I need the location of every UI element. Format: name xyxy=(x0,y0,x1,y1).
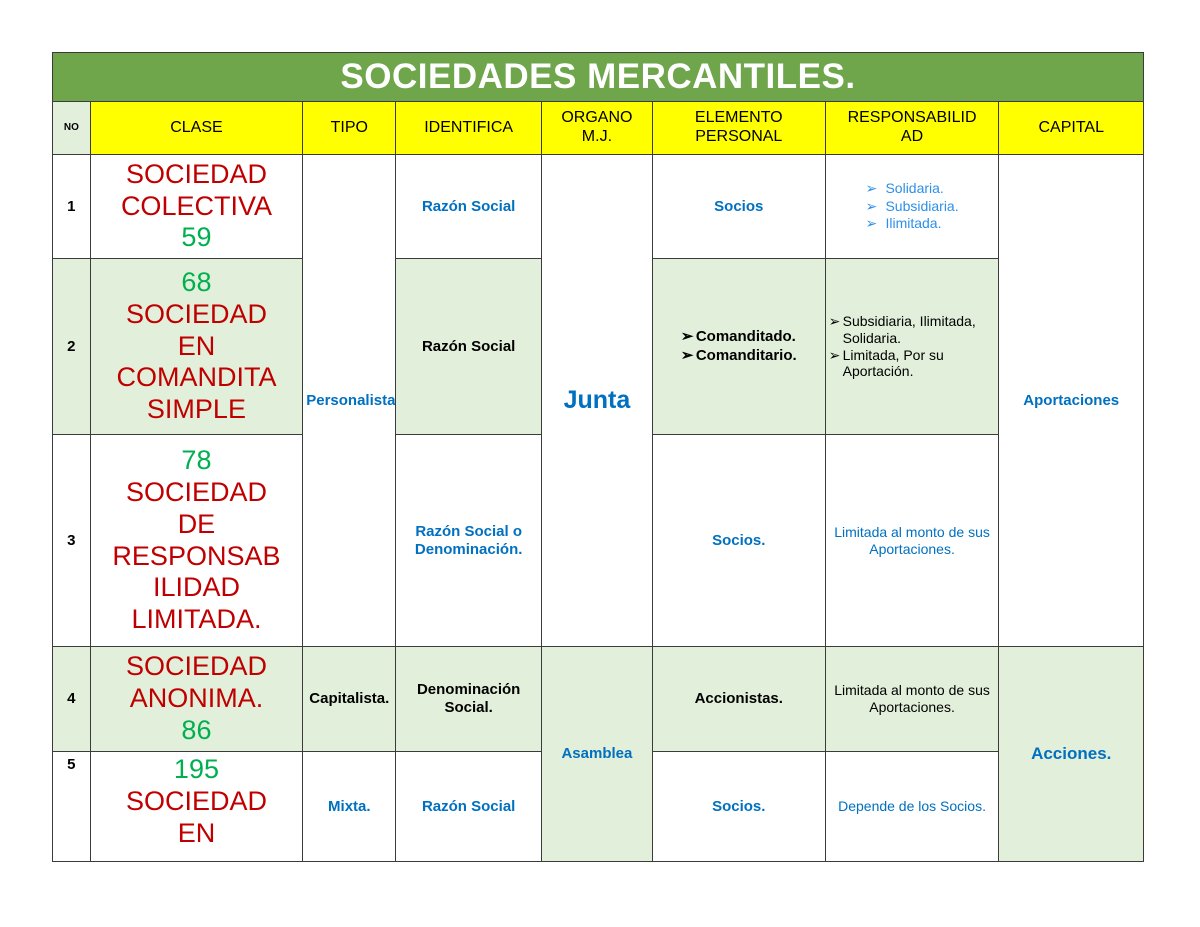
list-item: ➢Subsidiaria, Ilimitada, Solidaria. xyxy=(829,313,996,346)
clase-article-number: 68 xyxy=(181,267,211,297)
clase-line-5: LIMITADA. xyxy=(131,604,261,634)
responsabilidad-list: ➢Solidaria. ➢Subsidiaria. ➢Ilimitada. xyxy=(865,180,958,233)
list-item-label: Ilimitada. xyxy=(885,215,941,231)
clase-line-1: SOCIEDAD xyxy=(126,159,267,189)
list-item-label: Subsidiaria. xyxy=(885,198,958,214)
cell-responsabilidad: Depende de los Socios. xyxy=(825,752,999,862)
cell-clase: 68 SOCIEDAD EN COMANDITA SIMPLE xyxy=(90,259,303,435)
list-item: ➢Comanditario. xyxy=(681,347,797,365)
identifica-line-2: Denominación. xyxy=(415,541,523,558)
clase-line-4: SIMPLE xyxy=(147,394,246,424)
clase-line-2: DE xyxy=(178,509,216,539)
clase-line-3: RESPONSAB xyxy=(112,541,280,571)
sociedades-mercantiles-table: SOCIEDADES MERCANTILES. NO CLASE TIPO ID… xyxy=(52,52,1144,862)
cell-organo-merged: Junta xyxy=(541,155,652,647)
responsabilidad-list: ➢Subsidiaria, Ilimitada, Solidaria. ➢Lim… xyxy=(829,313,996,379)
column-header-clase: CLASE xyxy=(90,102,303,155)
responsabilidad-line-1: RESPONSABILID xyxy=(848,109,977,126)
table-row: 4 SOCIEDAD ANONIMA. 86 Capitalista. Deno… xyxy=(53,647,1144,752)
list-item-label: Limitada, Por su Aportación. xyxy=(843,347,944,380)
row-number: 3 xyxy=(53,435,91,647)
bullet-arrow-icon: ➢ xyxy=(681,328,694,346)
cell-responsabilidad: ➢Subsidiaria, Ilimitada, Solidaria. ➢Lim… xyxy=(825,259,999,435)
clase-article-number: 78 xyxy=(181,445,211,475)
cell-organo-merged: Asamblea xyxy=(541,647,652,862)
responsabilidad-line-2: AD xyxy=(901,128,923,145)
bullet-arrow-icon: ➢ xyxy=(865,215,877,232)
cell-responsabilidad: Limitada al monto de sus Aportaciones. xyxy=(825,647,999,752)
organo-line-2: M.J. xyxy=(582,128,612,145)
cell-clase: 195 SOCIEDAD EN xyxy=(90,752,303,862)
cell-identifica: Razón Social xyxy=(396,752,542,862)
clase-line-2: COLECTIVA xyxy=(121,191,272,221)
clase-line-2: EN xyxy=(178,818,216,848)
cell-capital-merged: Aportaciones xyxy=(999,155,1144,647)
elemento-line-2: PERSONAL xyxy=(695,128,782,145)
list-item-label: Solidaria. xyxy=(885,180,943,196)
bullet-arrow-icon: ➢ xyxy=(829,347,841,364)
list-item-label: Comanditado. xyxy=(696,328,796,345)
bullet-arrow-icon: ➢ xyxy=(865,198,877,215)
cell-tipo: Mixta. xyxy=(303,752,396,862)
cell-responsabilidad: Limitada al monto de sus Aportaciones. xyxy=(825,435,999,647)
list-item: ➢Ilimitada. xyxy=(865,215,958,232)
elemento-line-1: ELEMENTO xyxy=(695,109,783,126)
row-number: 2 xyxy=(53,259,91,435)
cell-elemento-personal: ➢Comanditado. ➢Comanditario. xyxy=(652,259,825,435)
column-header-tipo: TIPO xyxy=(303,102,396,155)
cell-elemento-personal: Accionistas. xyxy=(652,647,825,752)
cell-identifica: Denominación Social. xyxy=(396,647,542,752)
list-item-label: Comanditario. xyxy=(696,347,797,364)
list-item: ➢Comanditado. xyxy=(681,328,797,346)
list-item: ➢Subsidiaria. xyxy=(865,198,958,215)
clase-line-3: COMANDITA xyxy=(116,362,276,392)
page-title: SOCIEDADES MERCANTILES. xyxy=(53,53,1144,102)
identifica-line-1: Razón Social o xyxy=(415,523,522,540)
bullet-arrow-icon: ➢ xyxy=(681,347,694,365)
clase-line-1: SOCIEDAD xyxy=(126,651,267,681)
cell-identifica: Razón Social xyxy=(396,155,542,259)
identifica-line-1: Denominación xyxy=(417,681,520,698)
cell-clase: SOCIEDAD COLECTIVA 59 xyxy=(90,155,303,259)
clase-line-1: SOCIEDAD xyxy=(126,299,267,329)
row-number: 5 xyxy=(53,752,91,862)
column-header-identifica: IDENTIFICA xyxy=(396,102,542,155)
cell-clase: 78 SOCIEDAD DE RESPONSAB ILIDAD LIMITADA… xyxy=(90,435,303,647)
header-row: NO CLASE TIPO IDENTIFICA ORGANO M.J. ELE… xyxy=(53,102,1144,155)
clase-line-1: SOCIEDAD xyxy=(126,786,267,816)
title-row: SOCIEDADES MERCANTILES. xyxy=(53,53,1144,102)
elemento-personal-list: ➢Comanditado. ➢Comanditario. xyxy=(681,328,797,365)
cell-tipo: Capitalista. xyxy=(303,647,396,752)
bullet-arrow-icon: ➢ xyxy=(865,180,877,197)
cell-capital-merged: Acciones. xyxy=(999,647,1144,862)
page-root: SOCIEDADES MERCANTILES. NO CLASE TIPO ID… xyxy=(0,0,1200,927)
column-header-organo: ORGANO M.J. xyxy=(541,102,652,155)
cell-clase: SOCIEDAD ANONIMA. 86 xyxy=(90,647,303,752)
clase-article-number: 59 xyxy=(181,222,211,252)
clase-line-4: ILIDAD xyxy=(153,572,240,602)
organo-line-1: ORGANO xyxy=(561,109,632,126)
cell-responsabilidad: ➢Solidaria. ➢Subsidiaria. ➢Ilimitada. xyxy=(825,155,999,259)
cell-tipo-merged: Personalista xyxy=(303,155,396,647)
row-number: 1 xyxy=(53,155,91,259)
identifica-line-2: Social. xyxy=(444,699,492,716)
clase-line-1: SOCIEDAD xyxy=(126,477,267,507)
column-header-elemento-personal: ELEMENTO PERSONAL xyxy=(652,102,825,155)
clase-article-number: 195 xyxy=(174,754,219,784)
column-header-no: NO xyxy=(53,102,91,155)
cell-identifica: Razón Social xyxy=(396,259,542,435)
cell-elemento-personal: Socios xyxy=(652,155,825,259)
clase-line-2: ANONIMA. xyxy=(130,683,264,713)
clase-line-2: EN xyxy=(178,331,216,361)
clase-article-number: 86 xyxy=(181,715,211,745)
table-row: 1 SOCIEDAD COLECTIVA 59 Personalista Raz… xyxy=(53,155,1144,259)
list-item: ➢Limitada, Por su Aportación. xyxy=(829,347,996,380)
column-header-responsabilidad: RESPONSABILID AD xyxy=(825,102,999,155)
bullet-arrow-icon: ➢ xyxy=(829,313,841,330)
cell-elemento-personal: Socios. xyxy=(652,435,825,647)
column-header-capital: CAPITAL xyxy=(999,102,1144,155)
cell-elemento-personal: Socios. xyxy=(652,752,825,862)
cell-identifica: Razón Social o Denominación. xyxy=(396,435,542,647)
row-number: 4 xyxy=(53,647,91,752)
list-item: ➢Solidaria. xyxy=(865,180,958,197)
list-item-label: Subsidiaria, Ilimitada, Solidaria. xyxy=(843,313,976,346)
